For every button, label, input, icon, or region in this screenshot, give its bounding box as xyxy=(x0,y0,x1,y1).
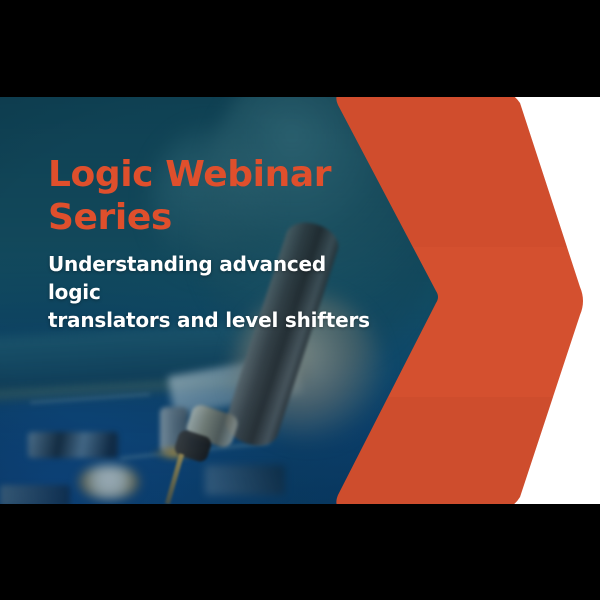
webinar-banner-artwork: Logic Webinar Series Understanding advan… xyxy=(0,97,600,504)
banner-frame: Logic Webinar Series Understanding advan… xyxy=(0,0,600,600)
banner-text-block: Logic Webinar Series Understanding advan… xyxy=(48,153,378,334)
page-subtitle: Understanding advanced logic translators… xyxy=(48,250,378,334)
page-title: Logic Webinar Series xyxy=(48,153,378,239)
